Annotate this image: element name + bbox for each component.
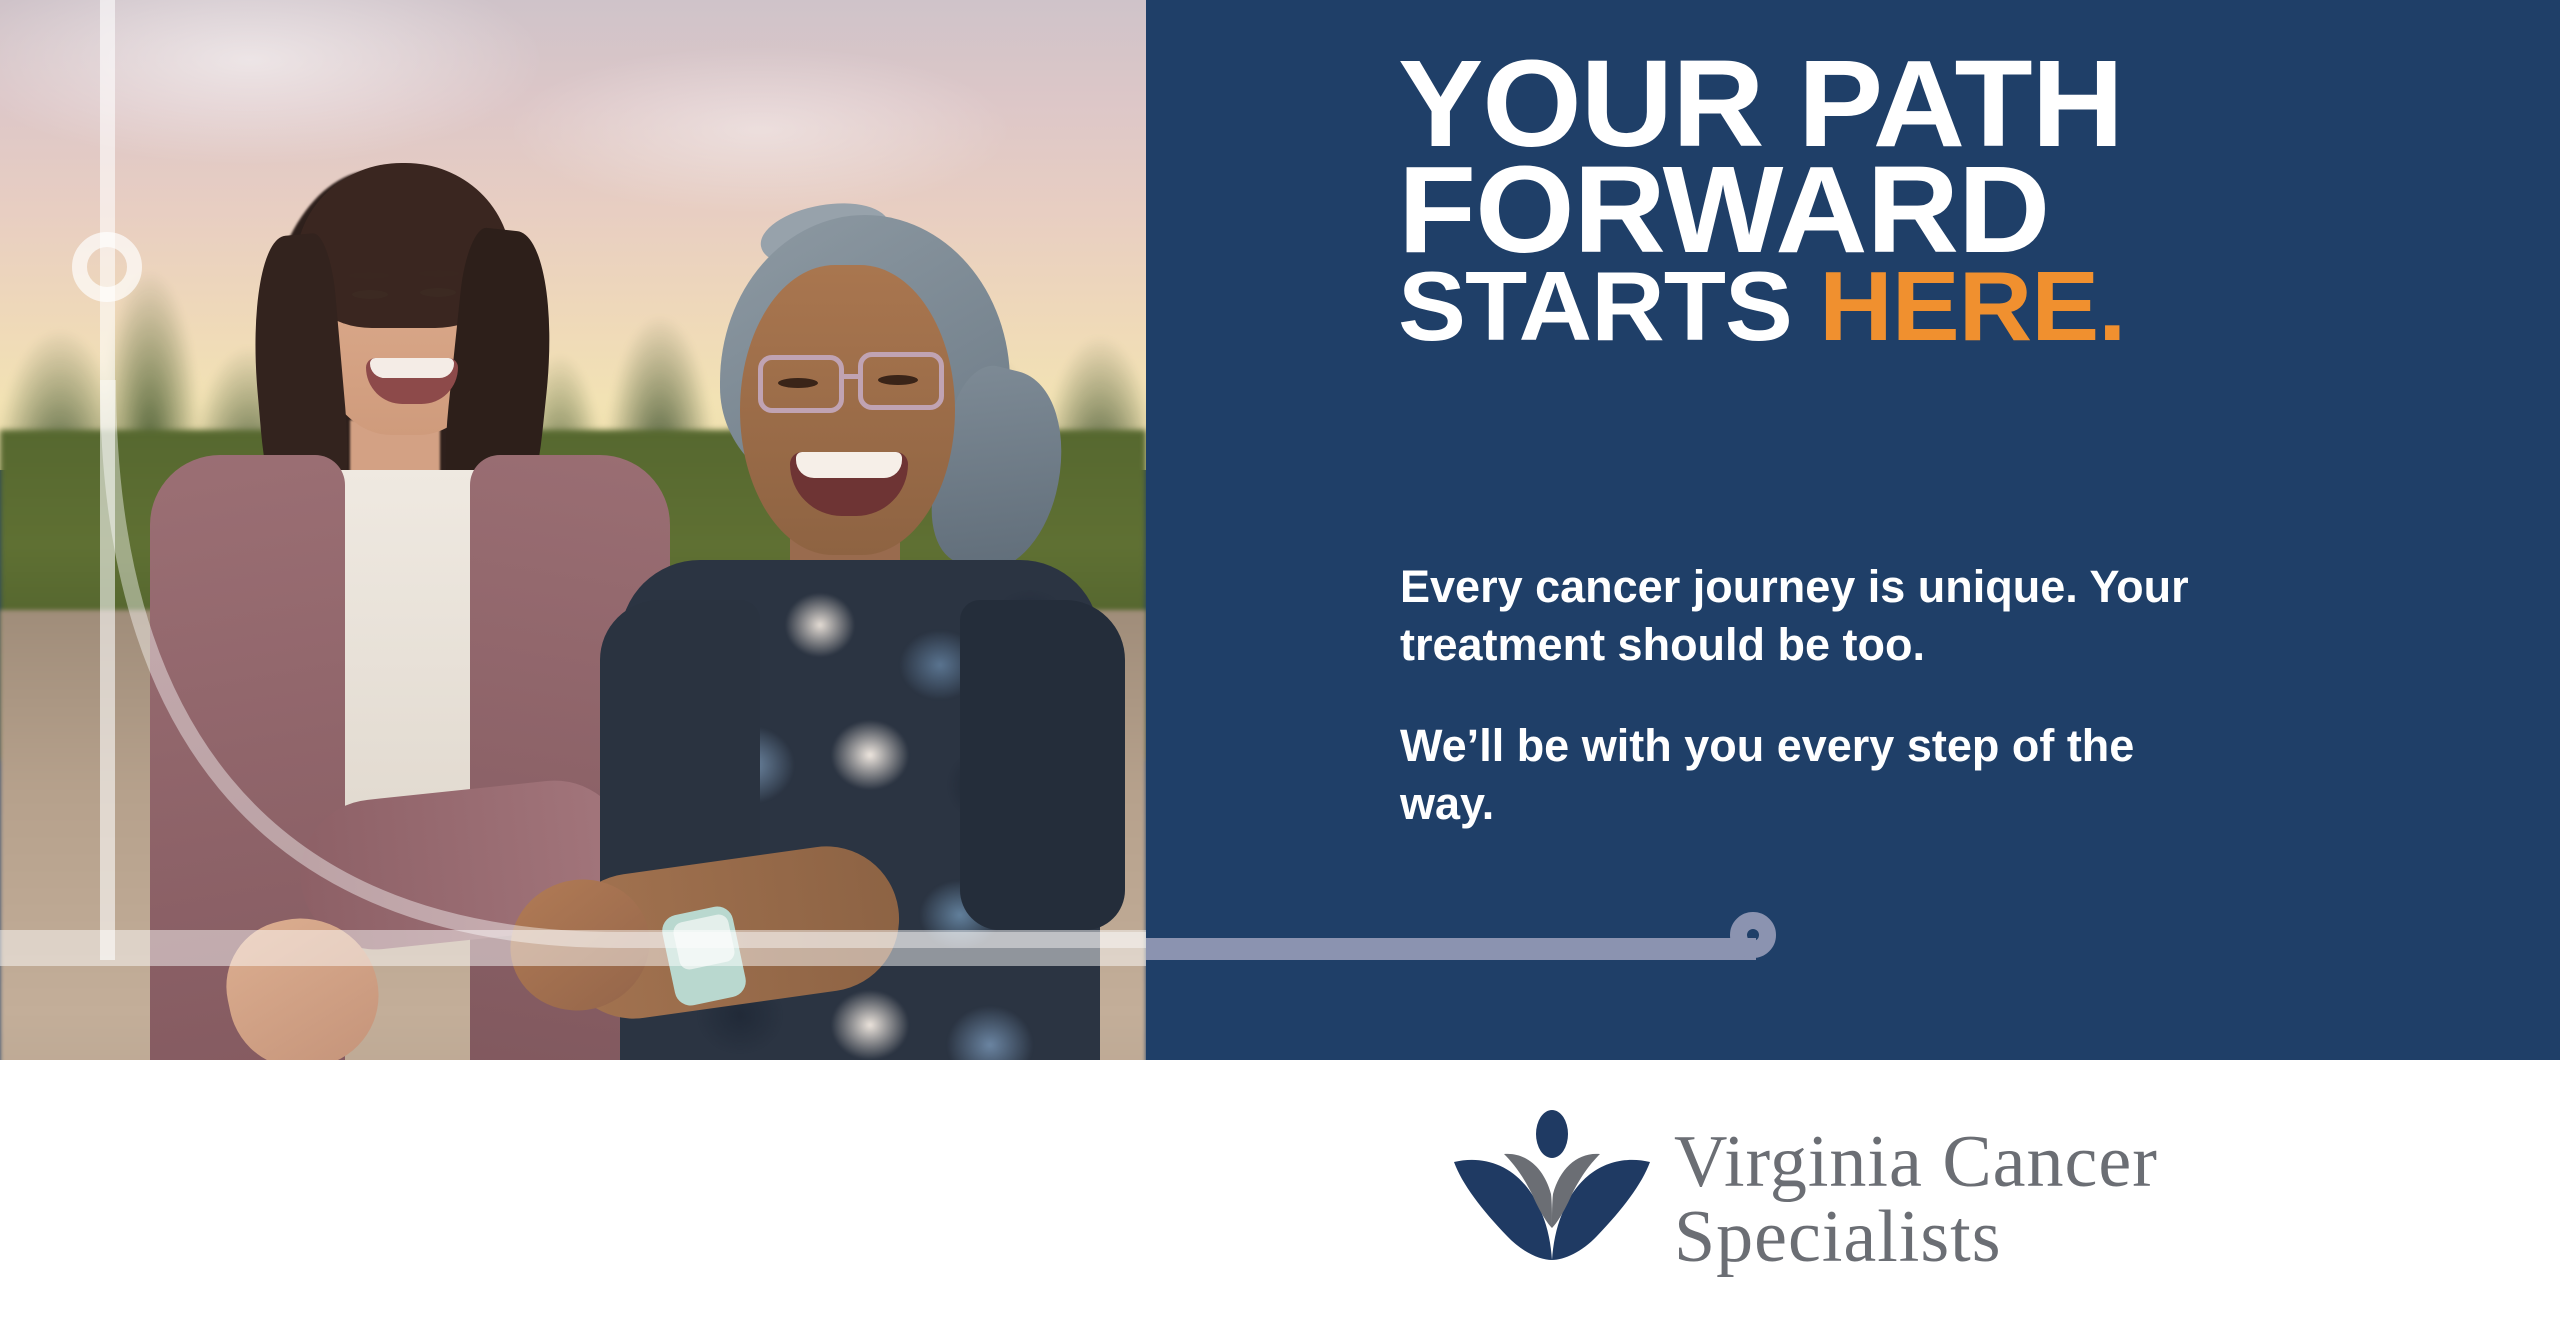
virginia-cancer-specialists-bloom-icon [1452,1110,1652,1290]
path-node-top-left-icon [72,232,142,302]
logo-wordmark-line-1: Virginia Cancer [1674,1121,2158,1203]
brand-logo: Virginia Cancer Specialists [1452,1100,2212,1300]
headline: YOUR PATH FORWARD STARTS HERE. [1398,52,2469,348]
body-copy: Every cancer journey is unique. Your tre… [1400,558,2220,832]
headline-line-3-accent: HERE. [1819,251,2125,361]
woman-left-eye-left [352,290,388,299]
body-paragraph-1: Every cancer journey is unique. Your tre… [1400,558,2220,673]
woman-right-glasses-bridge [842,374,862,379]
message-column: YOUR PATH FORWARD STARTS HERE. Every can… [1398,0,2428,1060]
woman-left-brow-left [348,272,390,279]
path-track-horizontal [0,930,1146,966]
woman-left-brow-right [418,270,460,277]
woman-left-teeth [370,358,454,378]
promotional-banner: YOUR PATH FORWARD STARTS HERE. Every can… [0,0,2560,1338]
woman-left-eye-right [420,288,456,297]
logo-wordmark: Virginia Cancer Specialists [1674,1125,2158,1276]
logo-wordmark-line-2: Specialists [1674,1196,2002,1278]
headline-line-3-white: STARTS [1398,251,1819,361]
headline-line-2: FORWARD [1398,158,2469,264]
headline-line-3: STARTS HERE. [1398,264,2469,348]
body-paragraph-2: We’ll be with you every step of the way. [1400,717,2220,832]
